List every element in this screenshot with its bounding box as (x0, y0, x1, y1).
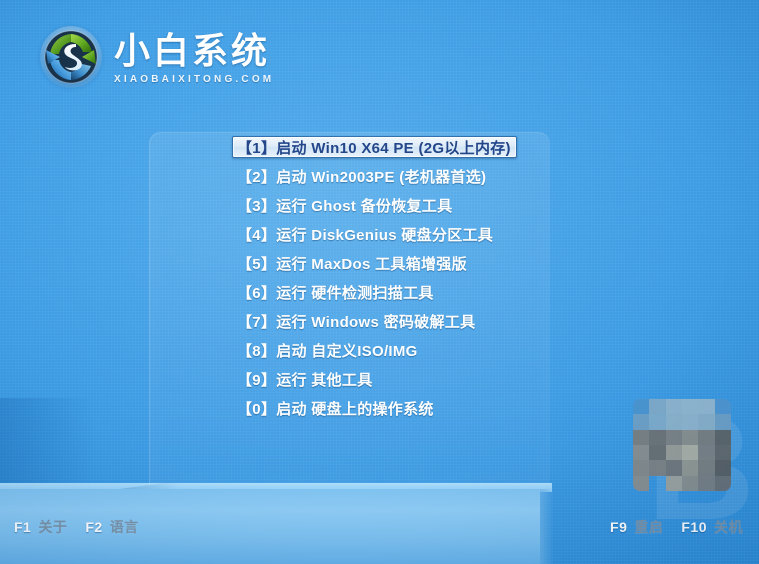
mosaic-tile (698, 414, 714, 429)
mosaic-tiles (633, 399, 731, 491)
brand-name-cn: 小白系统 (114, 31, 274, 71)
pedestal-side-shadow (0, 398, 96, 490)
mosaic-tile (715, 399, 731, 414)
mosaic-tile (649, 445, 665, 460)
menu-item-6[interactable]: 【6】运行 硬件检测扫描工具 (232, 281, 522, 303)
menu-item-label: 【1】启动 Win10 X64 PE (2G以上内存) (237, 137, 511, 158)
hotkey-key-f2: F2 (85, 519, 102, 535)
mosaic-tile (649, 430, 665, 445)
menu-item-label: 【5】运行 MaxDos 工具箱增强版 (237, 253, 467, 274)
mosaic-tile (682, 476, 698, 491)
menu-item-2[interactable]: 【2】启动 Win2003PE (老机器首选) (232, 165, 522, 187)
menu-item-7[interactable]: 【7】运行 Windows 密码破解工具 (232, 310, 522, 332)
mosaic-tile (698, 445, 714, 460)
mosaic-tile (682, 460, 698, 475)
mosaic-tile (698, 476, 714, 491)
mosaic-tile (682, 430, 698, 445)
hotkey-label-f1: 关于 (38, 517, 67, 537)
mosaic-tile (666, 430, 682, 445)
mosaic-tile (633, 476, 649, 491)
menu-item-label: 【7】运行 Windows 密码破解工具 (237, 311, 475, 332)
mosaic-tile (698, 399, 714, 414)
menu-item-0[interactable]: 【0】启动 硬盘上的操作系统 (232, 397, 522, 419)
menu-item-label: 【0】启动 硬盘上的操作系统 (237, 398, 434, 419)
hotkey-key-f1: F1 (14, 519, 31, 535)
mosaic-tile (682, 399, 698, 414)
mosaic-tile (649, 399, 665, 414)
mosaic-tile (633, 430, 649, 445)
mosaic-tile (649, 460, 665, 475)
mosaic-tile (666, 460, 682, 475)
menu-item-5[interactable]: 【5】运行 MaxDos 工具箱增强版 (232, 252, 522, 274)
menu-item-label: 【4】运行 DiskGenius 硬盘分区工具 (237, 224, 493, 245)
menu-item-4[interactable]: 【4】运行 DiskGenius 硬盘分区工具 (232, 223, 522, 245)
hotkeys-left: F1关于F2语言 (14, 517, 139, 537)
pedestal-right-edge (540, 489, 554, 564)
menu-item-9[interactable]: 【9】运行 其他工具 (232, 368, 522, 390)
mosaic-tile (666, 476, 682, 491)
censored-mosaic-block (633, 399, 731, 491)
mosaic-tile (666, 399, 682, 414)
brand-name-en: XIAOBAIXITONG.COM (114, 73, 274, 87)
hotkey-label-f9: 重启 (634, 517, 663, 537)
mosaic-tile (633, 445, 649, 460)
hotkey-key-f10: F10 (681, 519, 707, 535)
boot-menu-screen: B (0, 0, 759, 564)
mosaic-tile (633, 399, 649, 414)
brand-text: 小白系统 XIAOBAIXITONG.COM (114, 27, 274, 87)
mosaic-tile (715, 445, 731, 460)
mosaic-tile (633, 460, 649, 475)
mosaic-tile (698, 430, 714, 445)
menu-item-label: 【9】运行 其他工具 (237, 369, 373, 390)
boot-menu-list[interactable]: 【1】启动 Win10 X64 PE (2G以上内存)【2】启动 Win2003… (232, 136, 522, 426)
hotkeys-right: F9重启F10关机 (610, 517, 743, 537)
menu-item-label: 【2】启动 Win2003PE (老机器首选) (237, 166, 486, 187)
mosaic-tile (682, 445, 698, 460)
menu-item-label: 【3】运行 Ghost 备份恢复工具 (237, 195, 452, 216)
mosaic-tile (666, 445, 682, 460)
mosaic-tile (649, 476, 665, 491)
mosaic-tile (715, 460, 731, 475)
mosaic-tile (649, 414, 665, 429)
mosaic-tile (633, 414, 649, 429)
hotkey-label-f10: 关机 (714, 517, 743, 537)
mosaic-tile (682, 414, 698, 429)
mosaic-tile (715, 414, 731, 429)
mosaic-tile (666, 414, 682, 429)
menu-item-3[interactable]: 【3】运行 Ghost 备份恢复工具 (232, 194, 522, 216)
menu-item-1[interactable]: 【1】启动 Win10 X64 PE (2G以上内存) (232, 136, 517, 158)
hotkey-label-f2: 语言 (110, 517, 139, 537)
mosaic-tile (698, 460, 714, 475)
mosaic-tile (715, 430, 731, 445)
menu-item-8[interactable]: 【8】启动 自定义ISO/IMG (232, 339, 522, 361)
menu-item-label: 【8】启动 自定义ISO/IMG (237, 340, 418, 361)
brand-header: 小白系统 XIAOBAIXITONG.COM (38, 24, 274, 90)
recycle-arrows-circle-logo-icon (38, 24, 104, 90)
menu-item-label: 【6】运行 硬件检测扫描工具 (237, 282, 434, 303)
hotkey-key-f9: F9 (610, 519, 627, 535)
mosaic-tile (715, 476, 731, 491)
